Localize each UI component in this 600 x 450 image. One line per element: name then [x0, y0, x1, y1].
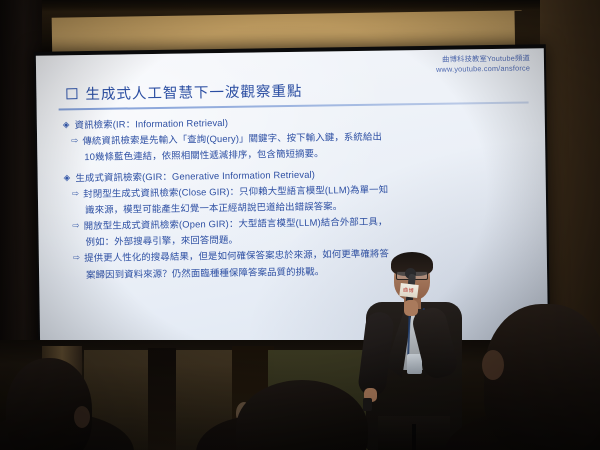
audience-ear-right	[482, 350, 504, 380]
speaker-badge	[407, 354, 422, 374]
square-bullet-icon	[66, 88, 77, 99]
channel-url: www.youtube.com/ansforce	[436, 63, 530, 74]
arrow-bullet-icon: ⇨	[72, 218, 80, 233]
arrow-bullet-icon: ⇨	[73, 251, 81, 266]
audience-ear-left	[74, 406, 90, 428]
microphone-flag: 曲博	[399, 283, 418, 298]
speaker-figure: 曲博	[352, 248, 482, 450]
arrow-bullet-icon: ⇨	[71, 133, 79, 148]
room-door-gap	[148, 348, 176, 450]
photo-scene: 曲博科技教室Youtube頻道 www.youtube.com/ansforce…	[0, 0, 600, 450]
slide-title: 生成式人工智慧下一波觀察重點	[66, 80, 302, 104]
speaker-leg-split	[412, 424, 416, 450]
microphone-flag-text: 曲博	[403, 286, 415, 294]
slide-title-text: 生成式人工智慧下一波觀察重點	[85, 80, 302, 104]
audience-head-right	[484, 304, 600, 450]
presentation-clicker	[363, 398, 372, 411]
arrow-bullet-icon: ⇨	[72, 186, 80, 201]
diamond-bullet-icon: ◈	[64, 170, 71, 185]
speaker-hand-holding-mic	[404, 300, 418, 316]
bullet-block: ◈ 資訊檢索(IR：Information Retrieval) ⇨ 傳統資訊檢…	[63, 111, 526, 166]
diamond-bullet-icon: ◈	[63, 117, 70, 132]
audience-head-left	[6, 358, 92, 450]
channel-credit: 曲博科技教室Youtube頻道 www.youtube.com/ansforce	[436, 53, 530, 74]
